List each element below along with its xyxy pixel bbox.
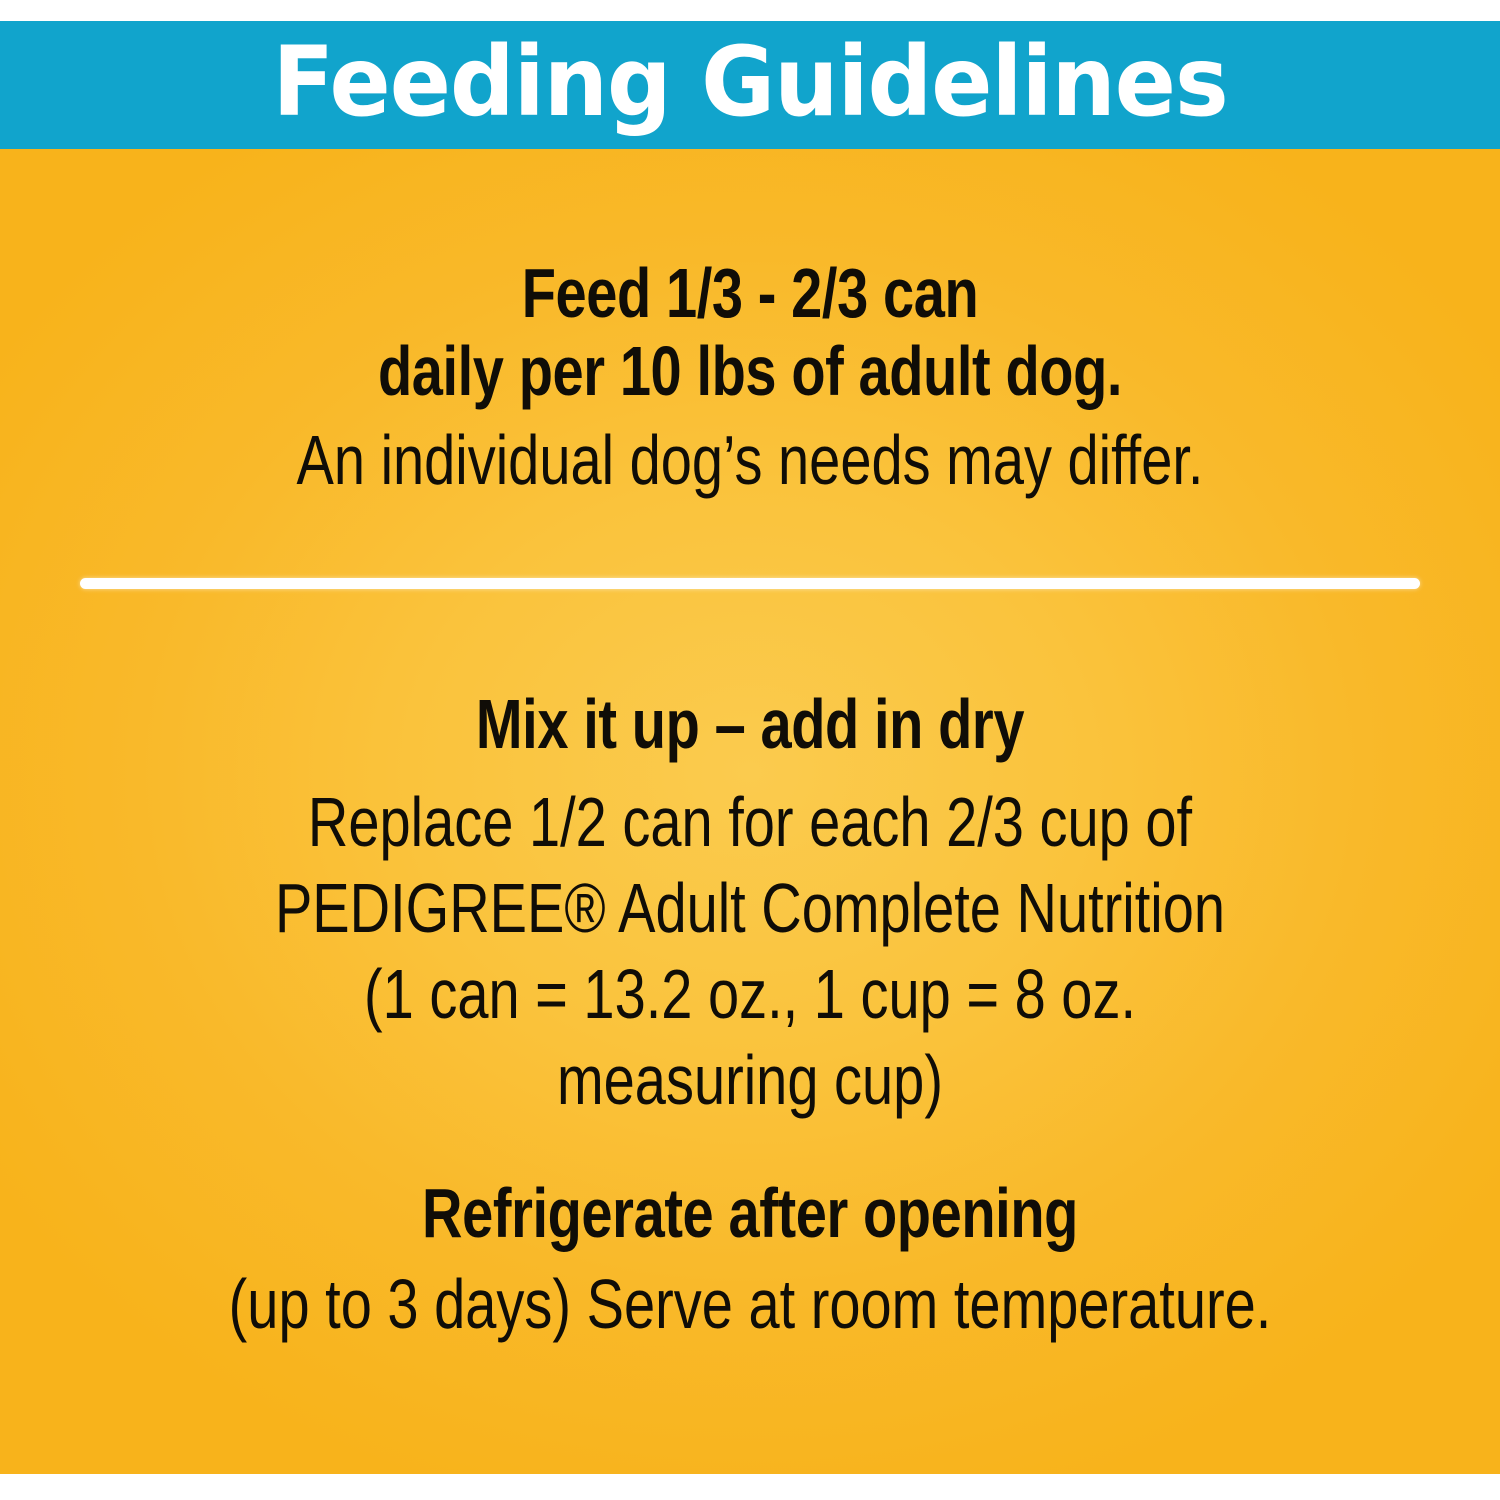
feeding-amount-line-2: daily per 10 lbs of adult dog. xyxy=(150,332,1350,410)
mix-in-dry-body-line-3: (1 can = 13.2 oz., 1 cup = 8 oz. xyxy=(150,951,1350,1037)
feeding-amount-note: An individual dog’s needs may differ. xyxy=(150,420,1350,500)
body-inner: Feed 1/3 - 2/3 can daily per 10 lbs of a… xyxy=(0,149,1500,1474)
page-title: Feeding Guidelines xyxy=(272,34,1227,136)
mix-in-dry-body-line-4: measuring cup) xyxy=(150,1037,1350,1123)
feeding-guidelines-panel: Feeding Guidelines Feed 1/3 - 2/3 can da… xyxy=(0,0,1500,1500)
section-divider xyxy=(80,578,1420,589)
feeding-amount-line-1: Feed 1/3 - 2/3 can xyxy=(150,254,1350,332)
mix-in-dry-section: Mix it up – add in dry Replace 1/2 can f… xyxy=(0,685,1500,1123)
storage-section: Refrigerate after opening (up to 3 days)… xyxy=(0,1174,1500,1344)
mix-in-dry-body-line-1: Replace 1/2 can for each 2/3 cup of xyxy=(150,779,1350,865)
mix-in-dry-body-line-2: PEDIGREE® Adult Complete Nutrition xyxy=(150,865,1350,951)
storage-body: (up to 3 days) Serve at room temperature… xyxy=(150,1264,1350,1344)
feeding-amount-section: Feed 1/3 - 2/3 can daily per 10 lbs of a… xyxy=(0,254,1500,500)
body-panel: Feed 1/3 - 2/3 can daily per 10 lbs of a… xyxy=(0,149,1500,1474)
mix-in-dry-heading: Mix it up – add in dry xyxy=(150,685,1350,763)
header-band: Feeding Guidelines xyxy=(0,21,1500,149)
mix-in-dry-body: Replace 1/2 can for each 2/3 cup of PEDI… xyxy=(0,779,1500,1123)
storage-heading: Refrigerate after opening xyxy=(150,1174,1350,1252)
